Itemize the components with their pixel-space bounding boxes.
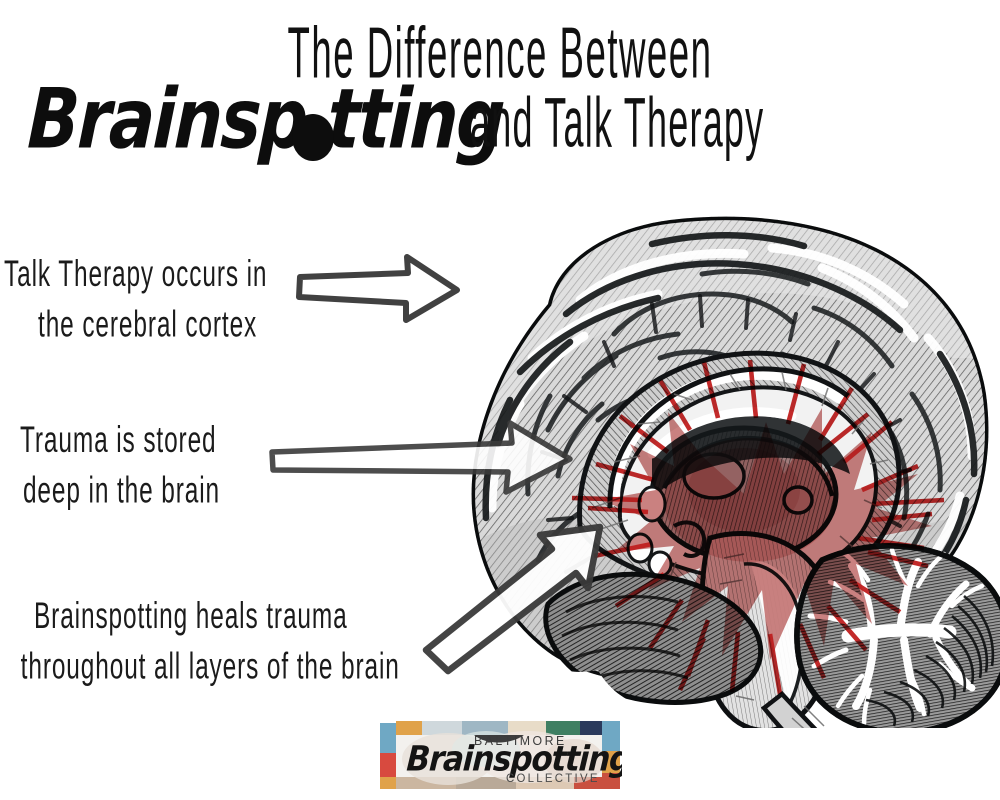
title-and-talk-therapy: and Talk Therapy xyxy=(470,82,764,164)
page-title: The Difference Between Brainsp tting and… xyxy=(0,14,1000,168)
annotation-trauma-stored-line2: deep in the brain xyxy=(20,464,220,514)
annotation-talk-therapy: Talk Therapy occurs in the cerebral cort… xyxy=(4,248,267,349)
logo-bottom-text: COLLECTIVE xyxy=(506,771,600,785)
infographic-poster: The Difference Between Brainsp tting and… xyxy=(0,0,1000,800)
annotation-brainspotting-heals-line2: throughout all layers of the brain xyxy=(21,640,400,690)
title-o-dot-icon xyxy=(292,114,334,161)
annotation-trauma-stored-line1: Trauma is stored xyxy=(20,418,217,459)
brain-illustration xyxy=(352,208,1000,728)
logo-baltimore-brainspotting-collective[interactable]: BALTIMORE Brainspotting COLLECTIVE xyxy=(378,719,622,791)
logo-text-group: BALTIMORE Brainspotting COLLECTIVE xyxy=(378,719,622,791)
annotation-brainspotting-heals-line1: Brainspotting heals trauma xyxy=(34,594,348,635)
logo-inner: BALTIMORE Brainspotting COLLECTIVE xyxy=(378,719,622,791)
annotation-talk-therapy-line1: Talk Therapy occurs in xyxy=(4,252,267,293)
annotation-brainspotting-heals: Brainspotting heals trauma throughout al… xyxy=(34,590,400,691)
annotation-talk-therapy-line2: the cerebral cortex xyxy=(4,298,267,348)
title-line-2: Brainsp tting and Talk Therapy xyxy=(0,76,1000,168)
title-brainspotting-word: Brainsp tting xyxy=(26,72,505,168)
annotation-trauma-stored: Trauma is stored deep in the brain xyxy=(20,414,220,515)
